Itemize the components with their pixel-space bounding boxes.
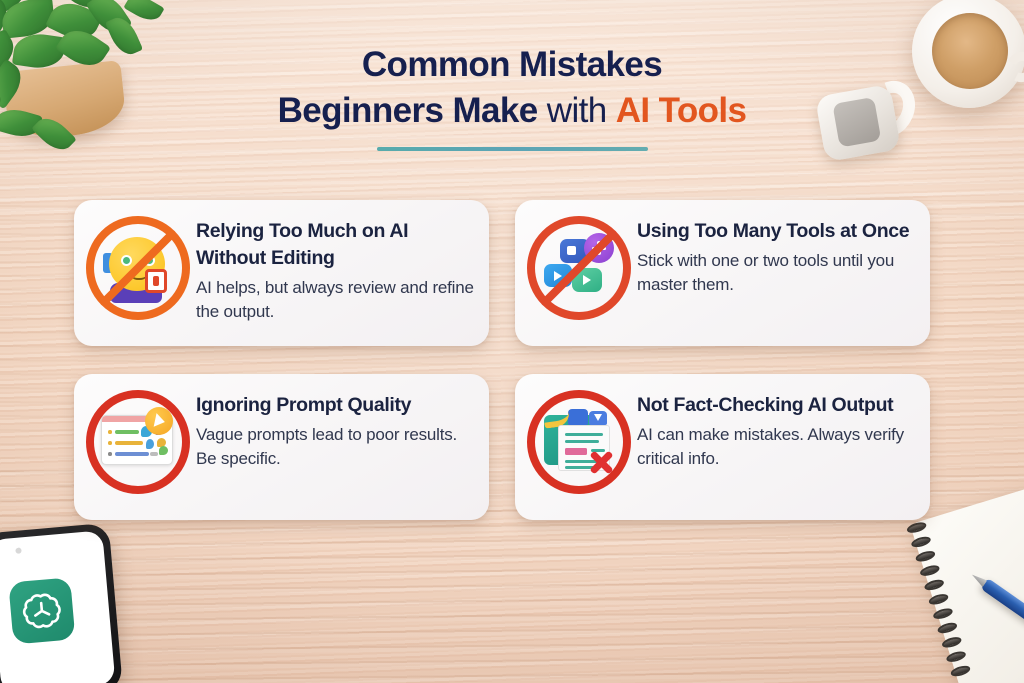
document-illustration xyxy=(542,405,616,479)
card-description: Vague prompts lead to poor results. Be s… xyxy=(196,423,475,471)
card-description: AI can make mistakes. Always verify crit… xyxy=(637,423,916,471)
card-title: Relying Too Much on AI Without Editing xyxy=(196,218,475,272)
phone-body xyxy=(0,523,123,683)
spiral-notebook xyxy=(922,498,1024,683)
folder-tab-download xyxy=(589,411,607,425)
title-divider xyxy=(377,147,648,151)
prompt-form-illustration xyxy=(101,405,175,479)
title-line-1: Common Mistakes xyxy=(0,42,1024,88)
robot-edit-badge xyxy=(145,269,167,293)
mistake-card-2[interactable]: Using Too Many Tools at Once Stick with … xyxy=(515,200,930,346)
no-fact-check-document-icon xyxy=(527,390,631,494)
infographic-header: Common Mistakes Beginners Make with AI T… xyxy=(0,42,1024,151)
phone-screen xyxy=(0,530,115,683)
title-light-part: with xyxy=(538,91,616,130)
infographic-canvas: Common Mistakes Beginners Make with AI T… xyxy=(0,0,1024,683)
red-x-icon xyxy=(586,447,616,477)
no-many-apps-icon xyxy=(527,216,631,320)
chatgpt-app-icon[interactable] xyxy=(8,577,75,644)
title-accent-part: AI Tools xyxy=(616,91,747,130)
cursor-badge-icon xyxy=(145,407,173,435)
mistake-card-3[interactable]: Ignoring Prompt Quality Vague prompts le… xyxy=(74,374,489,520)
card-slot-4: Not Fact-Checking AI Output AI can make … xyxy=(502,374,930,520)
card-description: AI helps, but always review and refine t… xyxy=(196,276,475,324)
card-description: Stick with one or two tools until you ma… xyxy=(637,249,916,297)
title-line-2: Beginners Make with AI Tools xyxy=(0,88,1024,134)
card-slot-2: Using Too Many Tools at Once Stick with … xyxy=(502,200,930,346)
card-title: Using Too Many Tools at Once xyxy=(637,218,916,245)
card-title: Not Fact-Checking AI Output xyxy=(637,392,916,419)
phone-camera-dot xyxy=(15,547,22,554)
no-prompt-form-icon xyxy=(86,390,190,494)
folder-tab-blue xyxy=(568,409,588,425)
card-text-block: Ignoring Prompt Quality Vague prompts le… xyxy=(190,388,475,471)
robot-eye-left xyxy=(121,255,132,266)
card-slot-3: Ignoring Prompt Quality Vague prompts le… xyxy=(74,374,502,520)
mistake-card-1[interactable]: Relying Too Much on AI Without Editing A… xyxy=(74,200,489,346)
title-bold-part: Beginners Make xyxy=(278,91,538,130)
mistake-card-4[interactable]: Not Fact-Checking AI Output AI can make … xyxy=(515,374,930,520)
mistake-card-grid: Relying Too Much on AI Without Editing A… xyxy=(74,200,930,520)
card-title: Ignoring Prompt Quality xyxy=(196,392,475,419)
smartphone xyxy=(0,528,116,683)
card-slot-1: Relying Too Much on AI Without Editing A… xyxy=(74,200,502,346)
no-robot-icon xyxy=(86,216,190,320)
card-text-block: Relying Too Much on AI Without Editing A… xyxy=(190,214,475,324)
card-text-block: Not Fact-Checking AI Output AI can make … xyxy=(631,388,916,471)
card-text-block: Using Too Many Tools at Once Stick with … xyxy=(631,214,916,297)
